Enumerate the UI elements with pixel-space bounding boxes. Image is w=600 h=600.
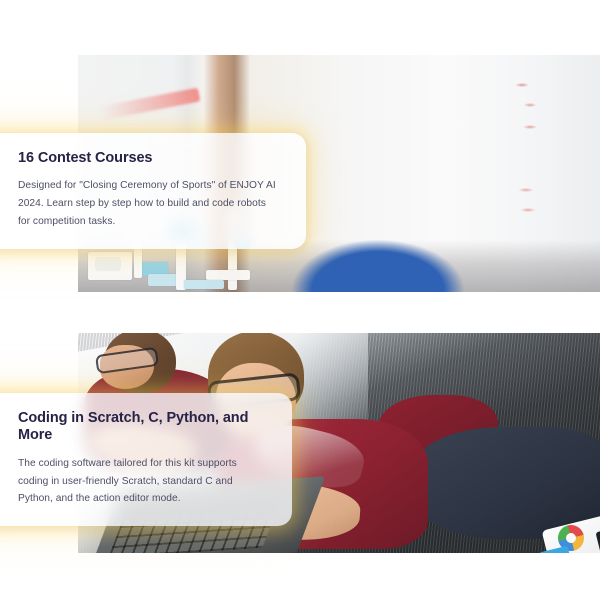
feature-page: 16 Contest Courses Designed for "Closing… [0,0,600,600]
feature-section-contest-courses: 16 Contest Courses Designed for "Closing… [0,55,600,292]
feature-card-body: The coding software tailored for this ki… [18,455,266,509]
feature-section-coding-languages: Coding in Scratch, C, Python, and More T… [0,333,600,553]
laptop-cable [258,545,488,553]
navy-clothing [408,427,600,539]
feature-card-title: 16 Contest Courses [18,150,280,167]
feature-card-title: Coding in Scratch, C, Python, and More [18,410,266,445]
feature-card-coding-languages: Coding in Scratch, C, Python, and More T… [0,393,292,526]
feature-card-body: Designed for "Closing Ceremony of Sports… [18,177,280,231]
red-banner-streak [100,88,201,121]
feature-card-contest-courses: 16 Contest Courses Designed for "Closing… [0,133,306,249]
